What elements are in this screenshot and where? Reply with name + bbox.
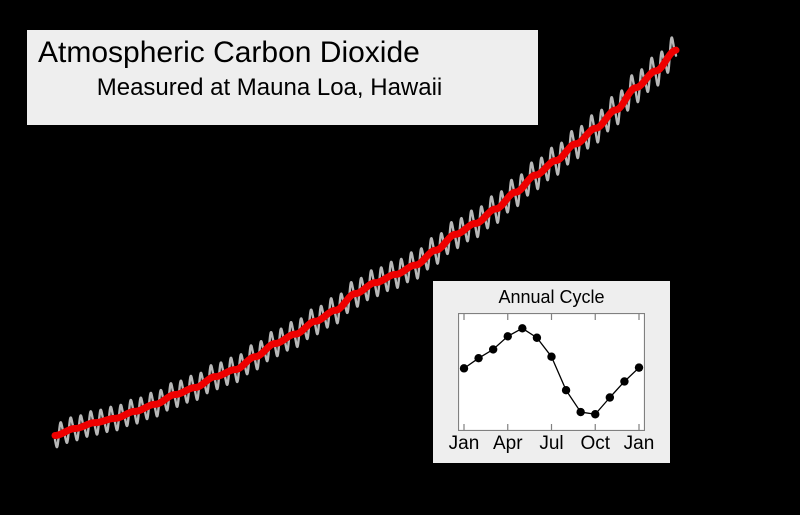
- inset-data-point: [504, 332, 512, 340]
- page-subtitle: Measured at Mauna Loa, Hawaii: [27, 72, 538, 103]
- inset-axis-label: Jan: [624, 433, 655, 455]
- inset-data-point: [474, 354, 482, 362]
- inset-axis-label: Jul: [539, 433, 563, 455]
- inset-data-point: [635, 363, 643, 371]
- inset-plot-area: [458, 313, 645, 431]
- inset-data-point: [620, 377, 628, 385]
- inset-data-point: [489, 345, 497, 353]
- chart-figure: Atmospheric Carbon Dioxide Measured at M…: [0, 0, 800, 515]
- inset-data-point: [460, 364, 468, 372]
- inset-data-point: [547, 353, 555, 361]
- inset-axis-label: Jan: [449, 433, 480, 455]
- annual-cycle-inset-panel: Annual Cycle JanAprJulOctJan: [433, 281, 670, 463]
- inset-x-axis-labels: JanAprJulOctJan: [433, 433, 670, 461]
- inset-title: Annual Cycle: [433, 287, 670, 308]
- inset-axis-label: Oct: [580, 433, 610, 455]
- inset-data-point: [562, 386, 570, 394]
- title-panel: Atmospheric Carbon Dioxide Measured at M…: [27, 30, 538, 125]
- inset-axis-label: Apr: [493, 433, 523, 455]
- inset-data-point: [518, 324, 526, 332]
- inset-plot-frame: [459, 314, 645, 431]
- inset-data-point: [606, 393, 614, 401]
- inset-data-point: [591, 410, 599, 418]
- page-title: Atmospheric Carbon Dioxide: [27, 34, 538, 72]
- inset-data-point: [576, 408, 584, 416]
- inset-data-point: [533, 334, 541, 342]
